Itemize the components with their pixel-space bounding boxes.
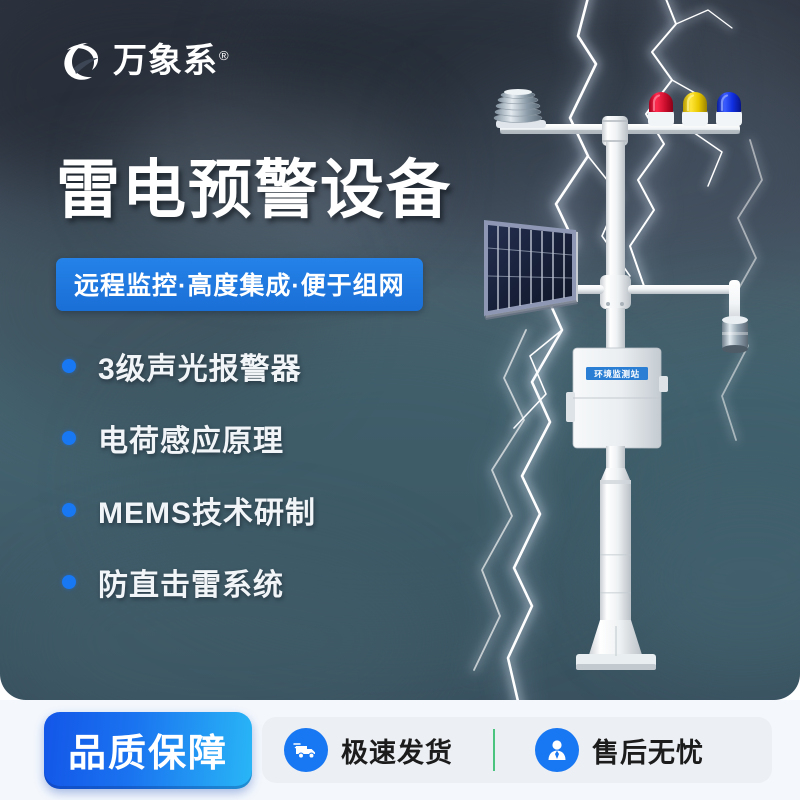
quality-guarantee-badge[interactable]: 品质保障 — [44, 712, 252, 789]
feature-label: 电荷感应原理 — [98, 416, 284, 460]
bullet-dot-icon — [62, 503, 76, 517]
mast-taper — [600, 468, 631, 482]
brand-logo-text: 万象系® — [113, 44, 230, 78]
bullet-dot-icon — [62, 575, 76, 589]
list-item: MEMS技术研制 — [62, 488, 316, 532]
list-item: 电荷感应原理 — [62, 416, 316, 460]
alarm-light-blue — [716, 92, 742, 126]
controller-box-label-text: 环境监测站 — [594, 369, 640, 379]
service-after-sales[interactable]: 售后无忧 — [535, 728, 704, 772]
mast-pole-lower-thin — [606, 446, 625, 470]
alarm-light-yellow — [682, 92, 708, 126]
service-pill: 极速发货 售后无忧 — [262, 717, 772, 783]
controller-box: 环境监测站 — [566, 348, 668, 448]
service-divider — [493, 729, 495, 771]
base-flange — [576, 626, 656, 670]
bullet-dot-icon — [62, 431, 76, 445]
trust-bar: 品质保障 极速发货 — [0, 700, 800, 800]
service-fast-shipping[interactable]: 极速发货 — [284, 728, 453, 772]
mast-top-clamp — [602, 116, 628, 146]
radiation-shield-sensor — [494, 89, 546, 128]
delivery-truck-icon — [284, 728, 328, 772]
solar-panel — [484, 220, 578, 320]
electric-field-sensor — [722, 316, 748, 353]
subtitle-badge: 远程监控·高度集成·便于组网 — [56, 258, 423, 311]
page-title: 雷电预警设备 — [56, 158, 452, 222]
hero-banner: 万象系® 雷电预警设备 远程监控·高度集成·便于组网 3级声光报警器 电荷感应原… — [0, 0, 800, 700]
mast-pole-upper — [606, 142, 625, 292]
feature-label: MEMS技术研制 — [98, 488, 316, 532]
brand-logo: 万象系® — [58, 38, 230, 84]
customer-service-person-icon — [535, 728, 579, 772]
mid-cross-joint — [600, 275, 631, 309]
feature-label: 防直击雷系统 — [98, 560, 284, 604]
bullet-dot-icon — [62, 359, 76, 373]
registered-mark: ® — [219, 48, 230, 63]
feature-label: 3级声光报警器 — [98, 344, 302, 388]
service-label: 售后无忧 — [592, 731, 704, 770]
product-image: 环境监测站 — [430, 80, 800, 700]
alarm-light-red — [648, 92, 674, 126]
list-item: 防直击雷系统 — [62, 560, 316, 604]
feature-list: 3级声光报警器 电荷感应原理 MEMS技术研制 防直击雷系统 — [62, 344, 316, 604]
swirl-leaf-logo-icon — [58, 38, 104, 84]
service-label: 极速发货 — [341, 731, 453, 770]
alarm-light-cluster — [648, 92, 742, 126]
list-item: 3级声光报警器 — [62, 344, 316, 388]
